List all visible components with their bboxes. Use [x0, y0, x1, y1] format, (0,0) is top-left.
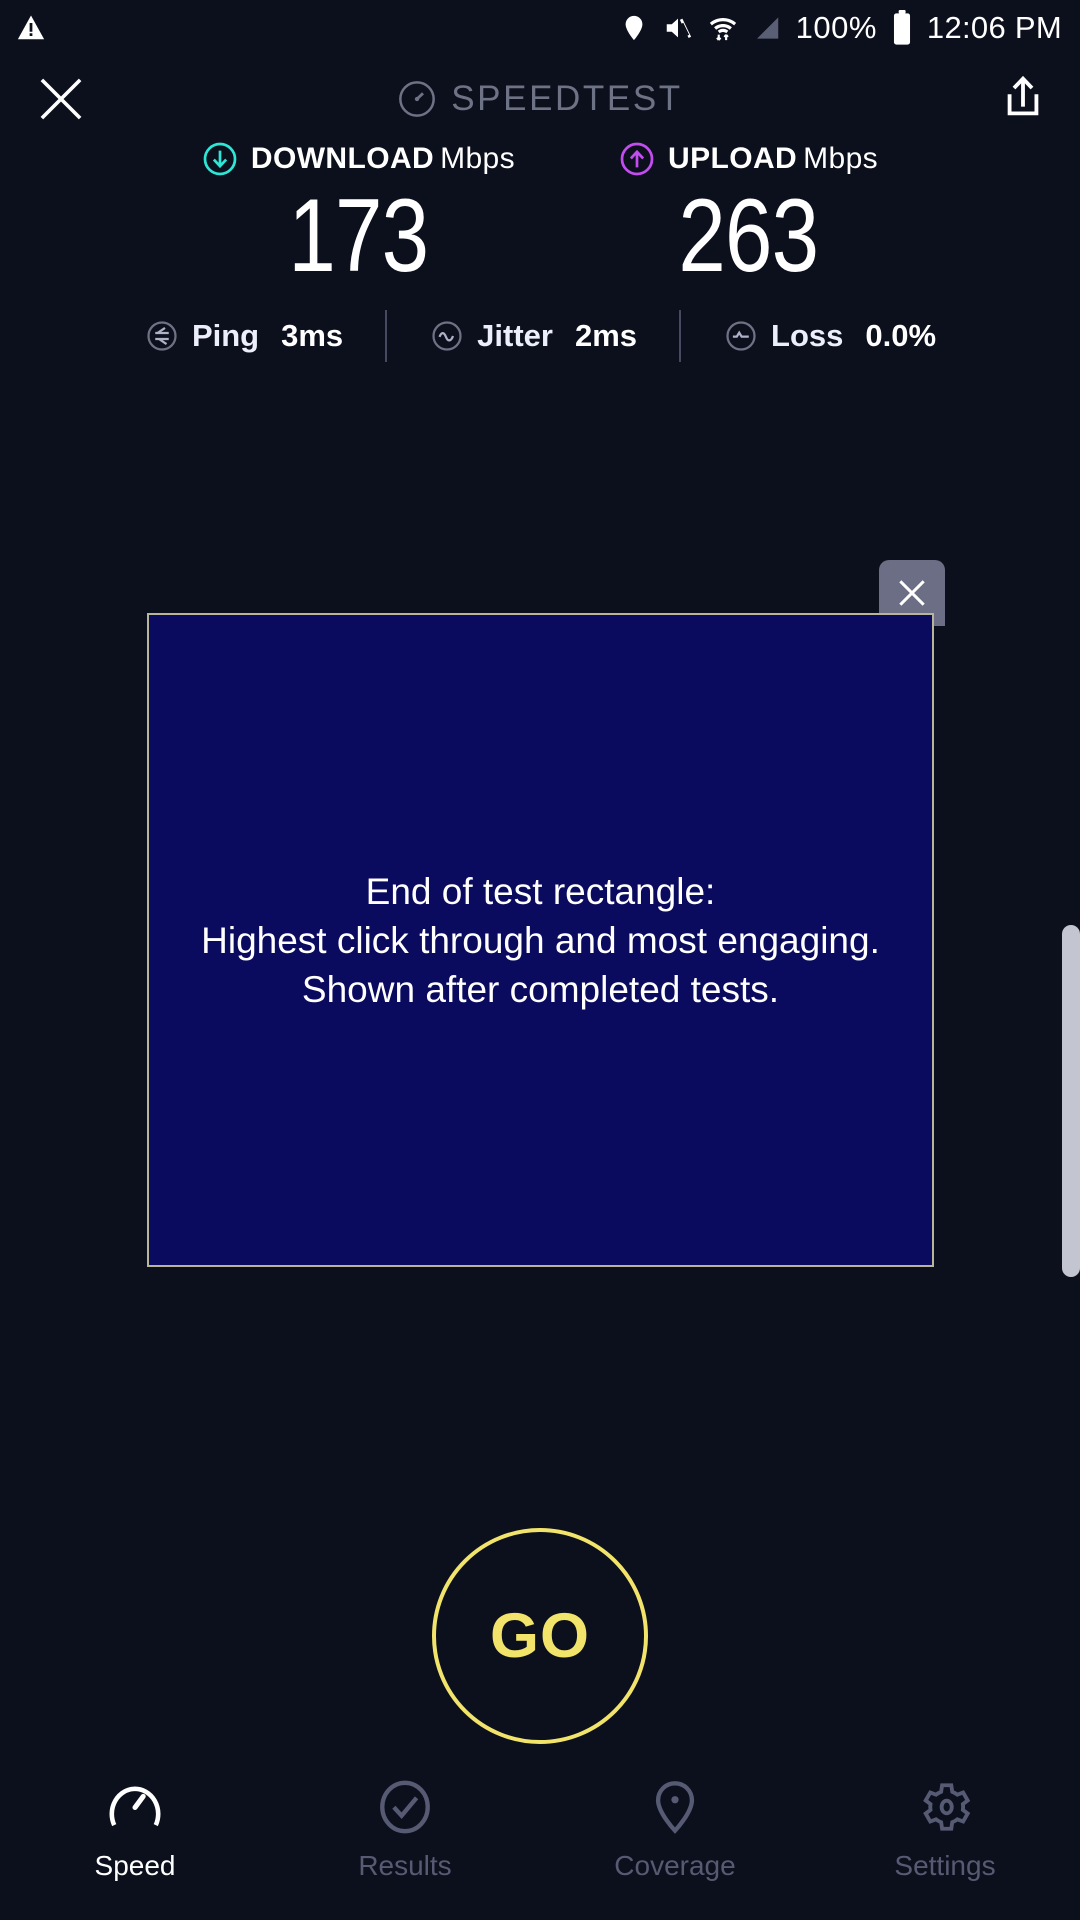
stat-jitter: Jitter 2ms — [429, 318, 637, 354]
nav-item-results[interactable]: Results — [270, 1778, 540, 1882]
share-button[interactable] — [1000, 72, 1046, 126]
stat-jitter-value: 2ms — [575, 318, 637, 354]
results-panel: DOWNLOADMbps 173 UPLOADMbps — [0, 138, 1080, 362]
page-title: SPEEDTEST — [451, 79, 683, 119]
stat-ping-label: Ping — [192, 318, 259, 354]
stat-ping: Ping 3ms — [144, 318, 343, 354]
loss-icon — [723, 318, 759, 354]
bottom-navigation-bar: Speed Results Coverage — [0, 1760, 1080, 1920]
app-title-group: SPEEDTEST — [0, 79, 1080, 119]
ad-text: End of test rectangle: Highest click thr… — [187, 867, 894, 1014]
stat-ping-value: 3ms — [281, 318, 343, 354]
stat-jitter-label: Jitter — [477, 318, 553, 354]
go-button[interactable]: GO — [432, 1528, 648, 1744]
download-metric: DOWNLOADMbps 173 — [202, 138, 515, 288]
stat-divider — [385, 310, 387, 362]
download-value: 173 — [289, 184, 429, 288]
battery-full-icon — [891, 10, 913, 46]
mute-speaker-icon — [662, 13, 694, 43]
wifi-transfer-icon — [708, 13, 738, 43]
network-stats-row: Ping 3ms Jitter 2ms — [0, 310, 1080, 362]
ad-line-2: Highest click through and most engaging. — [201, 916, 880, 965]
download-label: DOWNLOADMbps — [251, 142, 515, 176]
stat-loss-value: 0.0% — [865, 318, 936, 354]
advertisement-banner[interactable]: End of test rectangle: Highest click thr… — [147, 613, 934, 1267]
warning-triangle-icon — [16, 13, 46, 43]
app-header: SPEEDTEST — [0, 56, 1080, 142]
page-scrollbar[interactable] — [1062, 925, 1080, 1277]
speedometer-icon — [104, 1778, 166, 1836]
gear-icon — [914, 1778, 976, 1836]
status-bar: 100% 12:06 PM — [0, 0, 1080, 56]
upload-label: UPLOADMbps — [668, 142, 878, 176]
check-circle-icon — [374, 1778, 436, 1836]
status-bar-clock: 12:06 PM — [927, 10, 1062, 46]
battery-percent: 100% — [796, 10, 877, 46]
upload-value: 263 — [679, 184, 819, 288]
cell-signal-icon — [752, 13, 782, 43]
nav-label-coverage: Coverage — [614, 1850, 735, 1882]
upload-arrow-icon — [619, 141, 655, 177]
download-arrow-icon — [202, 141, 238, 177]
nav-label-speed: Speed — [95, 1850, 176, 1882]
close-button[interactable] — [34, 72, 88, 126]
ping-icon — [144, 318, 180, 354]
speed-metrics-row: DOWNLOADMbps 173 UPLOADMbps — [0, 138, 1080, 288]
upload-metric: UPLOADMbps 263 — [619, 138, 878, 288]
location-pin-icon — [620, 13, 648, 43]
ad-line-3: Shown after completed tests. — [201, 965, 880, 1014]
go-button-label: GO — [490, 1600, 590, 1672]
nav-item-speed[interactable]: Speed — [0, 1778, 270, 1882]
nav-label-settings: Settings — [894, 1850, 995, 1882]
nav-item-settings[interactable]: Settings — [810, 1778, 1080, 1882]
nav-item-coverage[interactable]: Coverage — [540, 1778, 810, 1882]
stat-divider — [679, 310, 681, 362]
stat-loss-label: Loss — [771, 318, 843, 354]
jitter-icon — [429, 318, 465, 354]
speedtest-app-screen: 100% 12:06 PM SP — [0, 0, 1080, 1920]
speedometer-icon — [397, 79, 437, 119]
stat-loss: Loss 0.0% — [723, 318, 936, 354]
location-pin-icon — [644, 1778, 706, 1836]
nav-label-results: Results — [358, 1850, 451, 1882]
ad-line-1: End of test rectangle: — [201, 867, 880, 916]
